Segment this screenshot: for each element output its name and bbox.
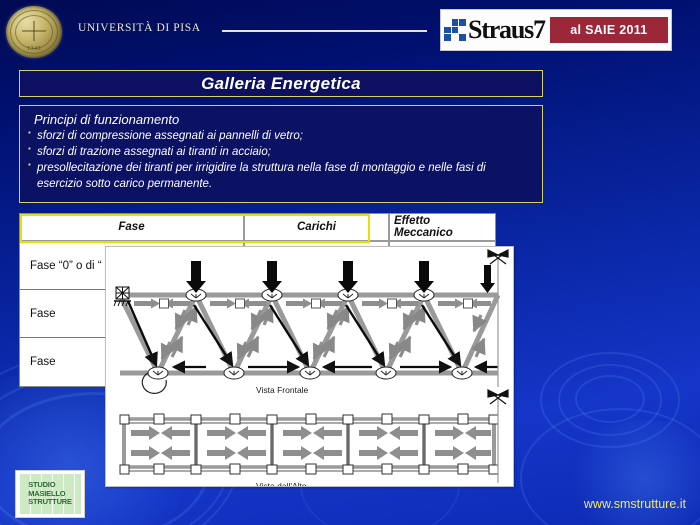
- saie-badge: al SAIE 2011: [550, 17, 668, 43]
- principles-heading: Principi di funzionamento: [34, 112, 534, 127]
- studio-masiello-logo: STUDIO MASIELLO STRUTTURE: [15, 470, 85, 518]
- principles-box: Principi di funzionamento sforzi di comp…: [19, 105, 543, 203]
- university-seal-icon: 1343: [6, 6, 62, 58]
- brand-name: Straus7: [468, 17, 545, 43]
- website-url: www.smstrutture.it: [584, 497, 686, 511]
- column-header-carichi: Carichi: [245, 214, 390, 242]
- university-name: UNIVERSITÀ DI PISA: [78, 22, 201, 34]
- list-item: presollecitazione dei tiranti per irrigi…: [28, 161, 534, 191]
- truss-diagram: Vista Frontale: [106, 247, 514, 487]
- slide-title-box: Galleria Energetica: [19, 70, 543, 97]
- column-header-effetto: Effetto Meccanico: [390, 214, 495, 242]
- slide-header: 1343 UNIVERSITÀ DI PISA Straus7 al SAIE …: [0, 0, 700, 62]
- caption-top: Vista dall'Alto: [256, 481, 307, 487]
- page-title: Galleria Energetica: [201, 74, 361, 94]
- list-item: sforzi di compressione assegnati ai pann…: [28, 129, 534, 144]
- top-view-group: Vista dall'Alto: [120, 390, 508, 487]
- list-item: sforzi di trazione assegnati ai tiranti …: [28, 145, 534, 160]
- logo-line-3: STRUTTURE: [28, 498, 72, 506]
- grid-squares-icon: [444, 19, 466, 41]
- load-arrow: [186, 261, 495, 293]
- seal-year: 1343: [6, 46, 62, 52]
- caption-front: Vista Frontale: [256, 385, 309, 395]
- truss-figure-panel: Vista Frontale: [105, 246, 514, 487]
- header-divider: [222, 30, 427, 32]
- logo-text: STUDIO MASIELLO STRUTTURE: [28, 481, 72, 506]
- straus7-logo: Straus7 al SAIE 2011: [440, 9, 672, 51]
- top-view-arrow: [131, 426, 491, 440]
- top-view-arrow: [131, 446, 491, 460]
- table-header-row: Fase Carichi Effetto Meccanico: [20, 214, 495, 242]
- front-view-group: Vista Frontale: [114, 250, 508, 395]
- principles-list: sforzi di compressione assegnati ai pann…: [28, 129, 534, 192]
- column-header-fase: Fase: [20, 214, 245, 242]
